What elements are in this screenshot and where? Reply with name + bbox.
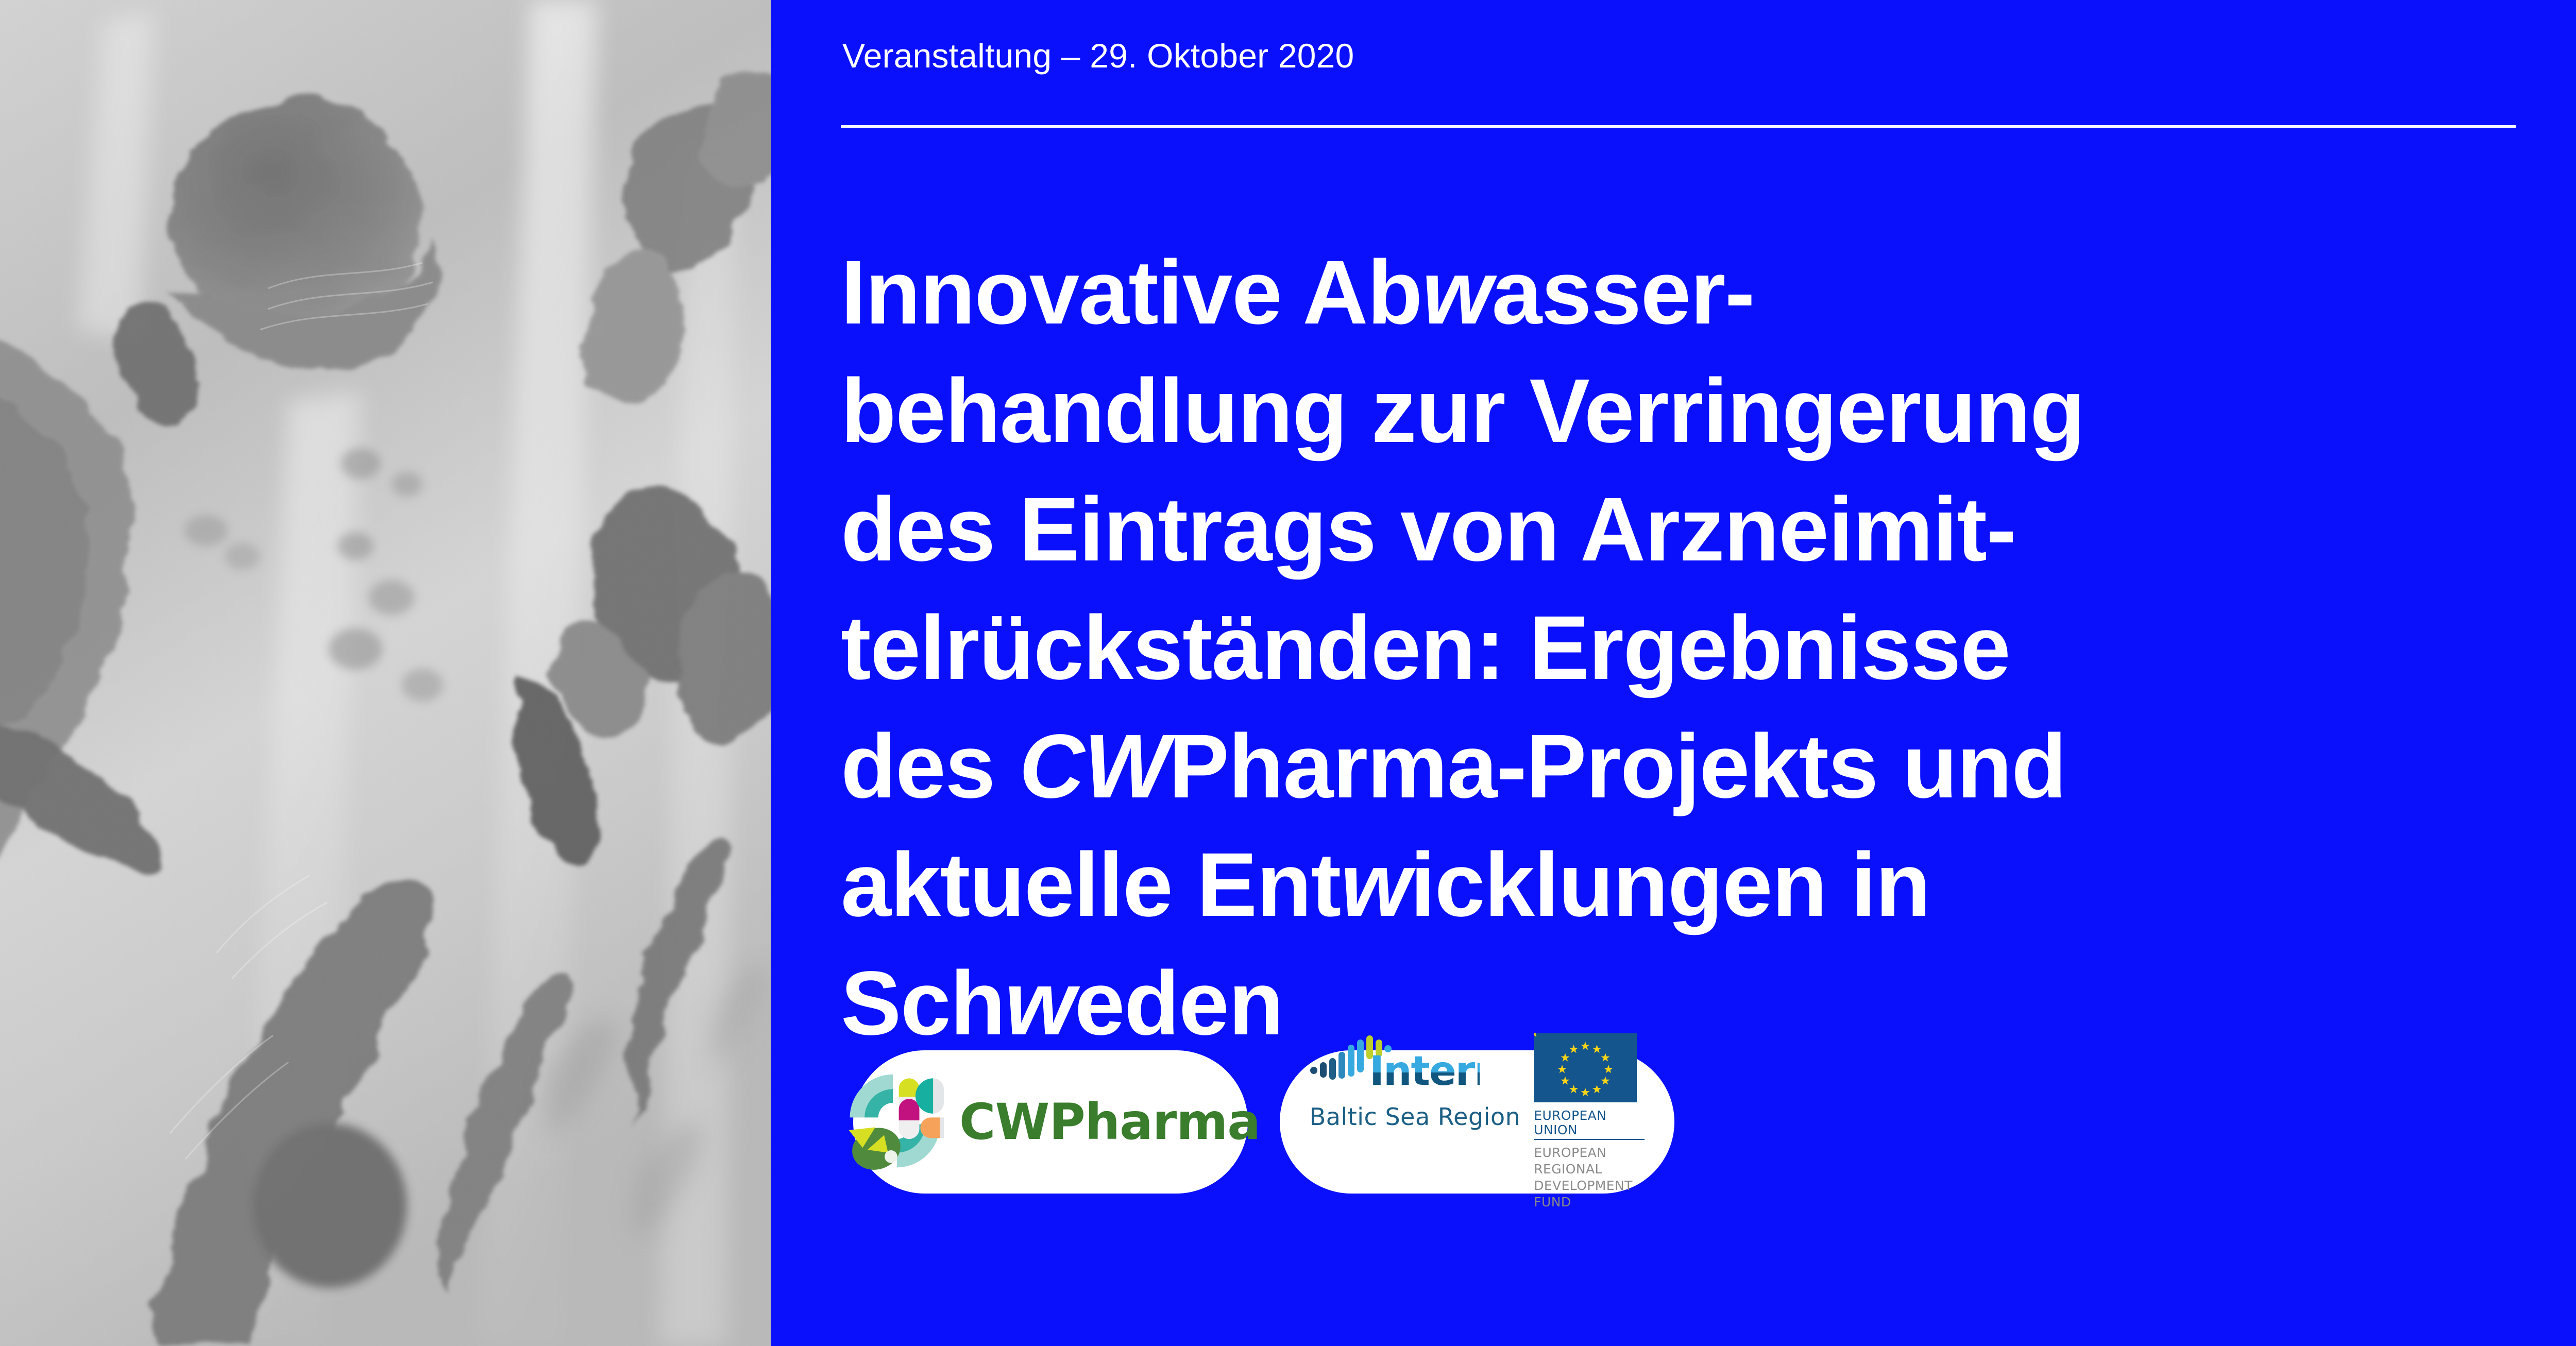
- page-title: Innovative Abwasser-behandlung zur Verri…: [841, 233, 2536, 1063]
- headline-line-4: telrückständen: Ergebnisse: [841, 589, 2536, 707]
- headline-emphasis: w: [1005, 953, 1074, 1054]
- interreg-wordmark-icon: Interreg: [1310, 1033, 1480, 1102]
- cwpharma-mark-icon: [846, 1070, 944, 1174]
- event-banner: Veranstaltung – 29. Oktober 2020 Innovat…: [0, 0, 2576, 1346]
- svg-text:Interreg: Interreg: [1369, 1048, 1480, 1095]
- headline-line-1: Innovative Abwasser-: [841, 233, 2536, 352]
- headline-line-3: des Eintrags von Arzneimit-: [841, 470, 2536, 589]
- headline-emphasis: CW: [1019, 716, 1168, 817]
- logo-row: CWPharma: [853, 1050, 1674, 1194]
- cwpharma-logo[interactable]: CWPharma: [853, 1050, 1248, 1194]
- eu-fund-label: EUROPEAN REGIONAL DEVELOPMENT FUND: [1534, 1145, 1632, 1211]
- headline-emphasis: w: [1341, 834, 1410, 935]
- interreg-subtitle: Baltic Sea Region: [1310, 1105, 1521, 1129]
- cwpharma-wordmark: CWPharma: [959, 1097, 1260, 1147]
- headline-line-6: aktuelle Entwicklungen in: [841, 826, 2536, 944]
- headline-emphasis: w: [1422, 242, 1492, 343]
- eu-flag-icon: [1534, 1033, 1637, 1105]
- headline-line-2: behandlung zur Verringerung: [841, 352, 2536, 470]
- event-kicker: Veranstaltung – 29. Oktober 2020: [842, 39, 1354, 73]
- interreg-logo[interactable]: Interreg Baltic Sea Region: [1280, 1050, 1674, 1194]
- headline-line-7: Schweden: [841, 944, 2536, 1063]
- headline-line-5: des CWPharma-Projekts und: [841, 707, 2536, 826]
- header-divider: [841, 125, 2516, 128]
- content-panel: Veranstaltung – 29. Oktober 2020 Innovat…: [771, 0, 2576, 1346]
- hero-photo: [0, 0, 771, 1346]
- eu-union-label: EUROPEAN UNION: [1534, 1109, 1645, 1140]
